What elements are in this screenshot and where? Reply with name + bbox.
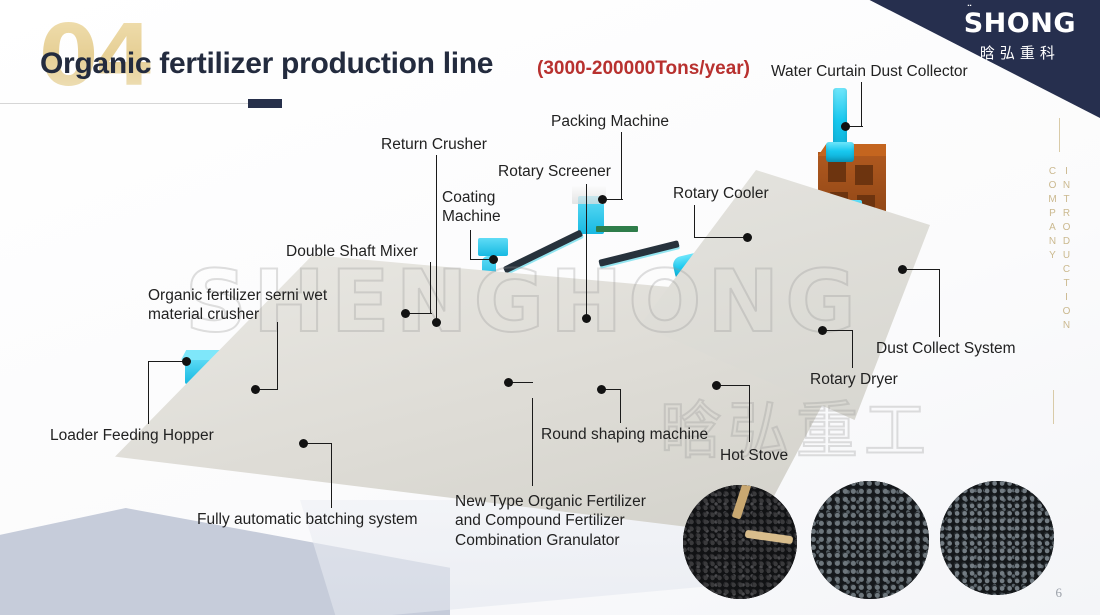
leader-double-shaft-mixer-h: [408, 313, 432, 314]
dot-rotary-cooler: [743, 233, 752, 242]
leader-semi-wet-crusher-h: [258, 389, 278, 390]
header-rule: [0, 103, 258, 104]
dot-coating-machine: [489, 255, 498, 264]
rotary-screener-out: [596, 226, 638, 232]
logo-text-en: ¨ SHONG: [964, 10, 1076, 37]
dot-combination-granulator: [504, 378, 513, 387]
dot-rotary-dryer: [818, 326, 827, 335]
callout-rotary-dryer: Rotary Dryer: [810, 370, 898, 389]
leader-rotary-screener: [586, 184, 587, 318]
callout-semi-wet-crusher: Organic fertilizer serni wet material cr…: [148, 286, 327, 325]
callout-double-shaft-mixer: Double Shaft Mixer: [286, 242, 418, 261]
product-photo-3: [940, 481, 1054, 595]
callout-batching-system: Fully automatic batching system: [197, 510, 418, 529]
hot-stove-chamber-1: [828, 162, 846, 182]
page-title: Organic fertilizer production line: [40, 47, 493, 81]
callout-water-curtain: Water Curtain Dust Collector: [771, 62, 968, 81]
leader-return-crusher: [436, 155, 437, 323]
leader-granulator-v: [532, 398, 533, 486]
leader-dust-collect-h: [905, 269, 939, 270]
leader-rotary-cooler: [694, 205, 695, 237]
conveyor-cooler-to-screener: [598, 240, 679, 267]
leader-dust-collect-v2: [939, 269, 940, 286]
logo-umlaut-icon: ¨: [967, 4, 974, 15]
leader-round-shaping-h: [604, 389, 621, 390]
dot-semi-wet-crusher: [251, 385, 260, 394]
callout-packing-machine: Packing Machine: [551, 112, 669, 131]
leader-coating-machine-v: [470, 230, 471, 260]
conveyor-screener-to-coating: [503, 230, 583, 274]
leader-semi-wet-crusher-v: [277, 322, 278, 390]
dot-packing-machine: [598, 195, 607, 204]
dot-double-shaft-mixer: [401, 309, 410, 318]
callout-return-crusher: Return Crusher: [381, 135, 487, 154]
granule-texture-2: [811, 481, 929, 599]
side-divider-top: [1059, 118, 1060, 152]
logo-brand-cn: 晗弘重科: [964, 42, 1076, 63]
dot-loader-feeding-hopper: [182, 357, 191, 366]
logo-brand-en: SHONG: [964, 8, 1076, 39]
leader-double-shaft-mixer-v: [430, 262, 431, 314]
callout-coating-machine: Coating Machine: [442, 188, 501, 227]
granule-texture-3: [940, 481, 1054, 595]
capacity-subtitle: (3000-200000Tons/year): [537, 58, 750, 80]
dot-batching-system: [299, 439, 308, 448]
dot-return-crusher: [432, 318, 441, 327]
callout-rotary-screener: Rotary Screener: [498, 162, 611, 181]
product-photo-1: [683, 485, 797, 599]
header-dash-marker: [248, 99, 282, 108]
callout-dust-collect-system: Dust Collect System: [876, 339, 1016, 358]
callout-loader-feeding-hopper: Loader Feeding Hopper: [50, 426, 214, 445]
dot-dust-collect-system: [898, 265, 907, 274]
callout-hot-stove: Hot Stove: [720, 446, 788, 465]
side-label-line1: COMPANY: [1047, 166, 1058, 334]
coating-machine: [478, 238, 508, 256]
leader-hot-stove-v: [749, 386, 750, 442]
leader-loader-hopper-h: [148, 361, 186, 362]
callout-rotary-cooler: Rotary Cooler: [673, 184, 769, 203]
dot-round-shaping-machine: [597, 385, 606, 394]
side-divider-bottom: [1053, 390, 1054, 424]
hot-stove-chamber-2: [855, 165, 873, 185]
leader-round-shaping-v: [620, 390, 621, 423]
leader-loader-hopper-v: [148, 362, 149, 424]
side-section-label: COMPANY INTRODUCTION: [1047, 118, 1072, 348]
leader-hot-stove-h: [719, 385, 750, 386]
leader-water-curtain-v: [861, 82, 862, 126]
company-logo: ¨ SHONG 晗弘重科: [964, 10, 1076, 63]
side-label-line2: INTRODUCTION: [1061, 166, 1072, 334]
leader-rotary-dryer: [852, 330, 853, 368]
dot-water-curtain: [841, 122, 850, 131]
leader-rotary-dryer-h: [823, 330, 853, 331]
leader-batching-v: [331, 444, 332, 508]
leader-batching-h: [305, 443, 332, 444]
leader-rotary-cooler-h: [694, 237, 746, 238]
dot-rotary-screener: [582, 314, 591, 323]
leader-packing-machine-h: [605, 199, 623, 200]
water-curtain-base: [826, 142, 854, 162]
page-number: 6: [1056, 585, 1063, 601]
leader-dust-collect-v: [939, 285, 940, 337]
dot-hot-stove: [712, 381, 721, 390]
leader-packing-machine-v: [621, 132, 622, 200]
callout-combination-granulator: New Type Organic Fertilizer and Compound…: [455, 492, 646, 550]
product-photo-2: [811, 481, 929, 599]
slide-canvas: 04 Organic fertilizer production line (3…: [0, 0, 1100, 615]
callout-round-shaping-machine: Round shaping machine: [541, 425, 708, 444]
